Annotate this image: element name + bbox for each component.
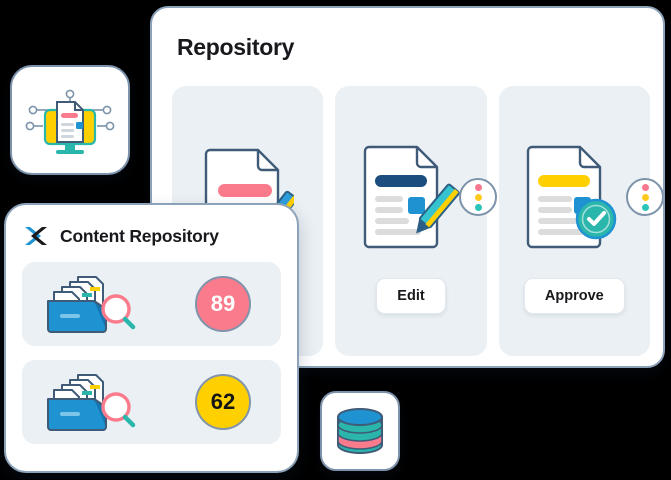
button-slot: Approve [499, 278, 650, 314]
card-title: Content Repository [60, 226, 219, 247]
document-pencil-navy-icon [361, 141, 461, 251]
connector-dots-2[interactable] [626, 178, 664, 216]
column-edit: Edit [335, 86, 486, 356]
database-cylinder-icon [334, 403, 386, 459]
document-check-yellow-icon [524, 141, 624, 251]
edit-button[interactable]: Edit [376, 278, 445, 314]
dot-teal [642, 204, 649, 211]
list-item[interactable]: 62 [22, 360, 281, 444]
card-header: Content Repository [23, 224, 297, 248]
content-repository-card: Content Repository 89 [4, 203, 299, 473]
dot-yellow [642, 194, 649, 201]
button-slot: Edit [335, 278, 486, 314]
filebox-search-icon [44, 273, 148, 335]
dot-pink [642, 184, 649, 191]
database-tile[interactable] [320, 391, 400, 471]
dot-pink [475, 184, 482, 191]
cms-monitor-document-icon [24, 80, 116, 160]
filebox-search-icon [44, 371, 148, 433]
column-approve: Approve [499, 86, 650, 356]
list-item[interactable]: 89 [22, 262, 281, 346]
approve-button[interactable]: Approve [524, 278, 625, 314]
status-badge: 89 [195, 276, 251, 332]
status-badge: 62 [195, 374, 251, 430]
connector-dots-1[interactable] [459, 178, 497, 216]
dot-teal [475, 204, 482, 211]
page-title: Repository [177, 34, 294, 61]
cms-tile[interactable] [10, 65, 130, 175]
illustration-stage: Repository [0, 0, 671, 480]
x-logo-icon [23, 224, 49, 248]
dot-yellow [475, 194, 482, 201]
